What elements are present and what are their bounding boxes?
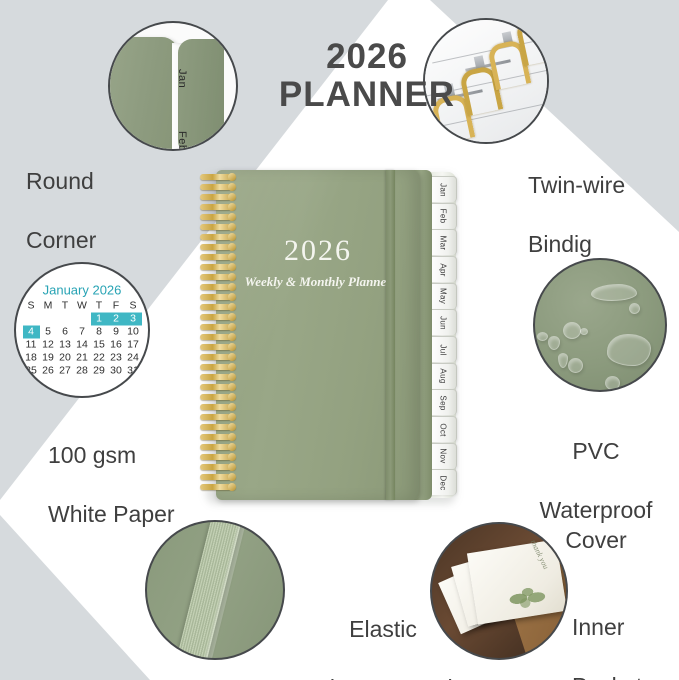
feature-label-pvc-cover-line1: PVC	[510, 437, 679, 466]
calendar-day-cell[interactable]: 17	[125, 339, 142, 352]
spiral-coil	[200, 174, 236, 180]
calendar-day-cell[interactable]: 30	[108, 365, 125, 378]
calendar-day-cell[interactable]: 8	[91, 326, 108, 339]
feature-label-twin-wire: Twin-wire Bindig	[528, 142, 678, 289]
calendar-day-cell[interactable]: 3	[125, 313, 142, 326]
calendar-day-cell[interactable]: 29	[91, 365, 108, 378]
calendar-week-row: 11121314151617	[23, 339, 142, 352]
month-tab-oct[interactable]: Oct	[430, 416, 457, 442]
spiral-coil	[200, 214, 236, 220]
calendar-day-cell[interactable]: 7	[74, 326, 91, 339]
feature-label-inner-pocket: Inner Pocket	[572, 584, 679, 680]
round-corner-cover	[108, 37, 178, 151]
spiral-coil	[200, 384, 236, 390]
calendar-weekday-header: S	[125, 300, 142, 313]
spiral-coil	[200, 294, 236, 300]
feature-label-inner-pocket-line1: Inner	[572, 613, 679, 642]
water-droplet	[563, 322, 581, 339]
calendar-day-cell[interactable]: 19	[40, 352, 57, 365]
calendar-day-cell[interactable]: 27	[57, 365, 74, 378]
month-tab-jan[interactable]: Jan	[430, 176, 457, 202]
spiral-coil	[200, 304, 236, 310]
calendar-weekday-header: T	[91, 300, 108, 313]
feature-label-elastic-band-line1: Elastic	[294, 615, 472, 644]
calendar-empty-cell	[40, 313, 57, 326]
spiral-coil	[200, 274, 236, 280]
month-tab-aug[interactable]: Aug	[430, 363, 457, 389]
month-tab-apr[interactable]: Apr	[430, 256, 457, 282]
calendar-day-cell[interactable]: 15	[91, 339, 108, 352]
calendar-day-cell[interactable]: 13	[57, 339, 74, 352]
feature-label-round-corner-line1: Round	[26, 167, 186, 196]
spiral-coil	[200, 244, 236, 250]
month-tab-label: Jan	[439, 183, 448, 197]
planner-product-image: JanFebMarAprMayJunJulAugSepOctNovDec 202…	[196, 168, 464, 504]
month-tab-label: Jul	[439, 344, 448, 355]
feature-label-white-paper-line1: 100 gsm	[48, 441, 218, 470]
month-tab-label: Mar	[439, 235, 448, 250]
calendar-empty-cell	[74, 313, 91, 326]
spiral-coil	[200, 234, 236, 240]
month-tab-label: Aug	[439, 369, 448, 384]
month-tab-mar[interactable]: Mar	[430, 229, 457, 255]
planner-month-tab-strip: JanFebMarAprMayJunJulAugSepOctNovDec	[430, 176, 458, 496]
month-tab-label: May	[439, 288, 448, 304]
calendar-day-cell[interactable]: 5	[40, 326, 57, 339]
month-tab-nov[interactable]: Nov	[430, 443, 457, 469]
month-tab-jul[interactable]: Jul	[430, 336, 457, 362]
calendar-day-cell[interactable]: 2	[108, 313, 125, 326]
calendar-weekday-header: M	[40, 300, 57, 313]
calendar-weekday-header: S	[23, 300, 40, 313]
spiral-coil	[200, 364, 236, 370]
water-droplet	[605, 376, 620, 390]
calendar-weekday-header: W	[74, 300, 91, 313]
spiral-coil	[200, 254, 236, 260]
calendar-empty-cell	[23, 313, 40, 326]
calendar-day-cell[interactable]: 23	[108, 352, 125, 365]
water-droplet	[558, 353, 568, 368]
calendar-day-cell[interactable]: 1	[91, 313, 108, 326]
month-tab-label: Dec	[439, 475, 448, 490]
calendar-week-row: 123	[23, 313, 142, 326]
calendar-day-cell[interactable]: 26	[40, 365, 57, 378]
calendar-header-row: SMTWTFS	[23, 300, 142, 313]
spiral-coil	[200, 184, 236, 190]
feature-label-twin-wire-line1: Twin-wire	[528, 171, 678, 200]
calendar-week-row: 45678910	[23, 326, 142, 339]
calendar-empty-cell	[57, 313, 74, 326]
calendar-day-cell[interactable]: 12	[40, 339, 57, 352]
spiral-coil	[200, 404, 236, 410]
calendar-table: SMTWTFS 12345678910111213141516171819202…	[23, 300, 142, 378]
calendar-widget: January 2026 SMTWTFS 1234567891011121314…	[19, 283, 145, 378]
spiral-coil	[200, 334, 236, 340]
spiral-coil	[200, 204, 236, 210]
month-tab-may[interactable]: May	[430, 283, 457, 309]
calendar-day-cell[interactable]: 24	[125, 352, 142, 365]
spiral-coil	[200, 324, 236, 330]
month-tab-jun[interactable]: Jun	[430, 309, 457, 335]
calendar-day-cell[interactable]: 20	[57, 352, 74, 365]
water-droplet	[568, 358, 583, 373]
month-tab-label: Sep	[439, 395, 448, 410]
calendar-weekday-header: F	[108, 300, 125, 313]
month-tab-label: Nov	[439, 449, 448, 464]
feature-label-elastic-band-line2: Closure Band	[294, 674, 472, 680]
product-infographic: 2026 PLANNER Jan Feb Round Corner Twin-w…	[0, 0, 679, 680]
month-tab-sep[interactable]: Sep	[430, 389, 457, 415]
spiral-coil	[200, 394, 236, 400]
calendar-day-cell[interactable]: 18	[23, 352, 40, 365]
calendar-day-cell[interactable]: 22	[91, 352, 108, 365]
calendar-day-cell[interactable]: 16	[108, 339, 125, 352]
month-tab-dec[interactable]: Dec	[430, 469, 457, 495]
headline-word: PLANNER	[262, 76, 472, 114]
calendar-week-row: 18192021222324	[23, 352, 142, 365]
calendar-day-cell[interactable]: 28	[74, 365, 91, 378]
calendar-weekday-header: T	[57, 300, 74, 313]
spiral-coil	[200, 344, 236, 350]
spiral-coil	[200, 374, 236, 380]
round-corner-tab-jan: Jan	[176, 69, 188, 88]
feature-label-pvc-cover-line2: Waterproof Cover	[510, 496, 679, 555]
water-droplet	[548, 336, 560, 350]
calendar-day-cell[interactable]: 9	[108, 326, 125, 339]
month-tab-label: Apr	[439, 263, 448, 276]
headline-year: 2026	[262, 38, 472, 76]
month-tab-feb[interactable]: Feb	[430, 203, 457, 229]
spiral-coil	[200, 314, 236, 320]
calendar-day-cell[interactable]: 11	[23, 339, 40, 352]
feature-label-white-paper-line2: White Paper	[48, 500, 218, 529]
calendar-week-row: 25262728293031	[23, 365, 142, 378]
calendar-day-cell[interactable]: 10	[125, 326, 142, 339]
detail-bubble-round-corner: Jan Feb	[108, 21, 238, 151]
feature-label-round-corner-line2: Corner	[26, 226, 186, 255]
calendar-day-cell[interactable]: 6	[57, 326, 74, 339]
calendar-day-cell[interactable]: 14	[74, 339, 91, 352]
spiral-coil	[200, 284, 236, 290]
month-tab-label: Jun	[439, 316, 448, 330]
planner-elastic-closure	[386, 170, 395, 500]
water-droplet	[580, 328, 588, 335]
calendar-day-cell[interactable]: 25	[23, 365, 40, 378]
water-droplet	[629, 303, 640, 314]
water-droplet	[537, 332, 548, 341]
feature-label-pvc-cover: PVC Waterproof Cover	[510, 408, 679, 585]
calendar-day-cell[interactable]: 21	[74, 352, 91, 365]
spiral-coil	[200, 264, 236, 270]
page-title: 2026 PLANNER	[262, 38, 472, 114]
calendar-day-cell[interactable]: 31	[125, 365, 142, 378]
feature-label-twin-wire-line2: Bindig	[528, 230, 678, 259]
feature-label-white-paper: 100 gsm White Paper	[48, 412, 218, 559]
month-tab-label: Oct	[439, 423, 448, 436]
feature-label-inner-pocket-line2: Pocket	[572, 672, 679, 680]
feature-label-elastic-band: Elastic Closure Band	[294, 586, 472, 680]
water-droplet	[607, 334, 651, 366]
spiral-coil	[200, 194, 236, 200]
spiral-coil	[200, 354, 236, 360]
calendar-day-cell[interactable]: 4	[23, 326, 40, 339]
month-tab-label: Feb	[439, 209, 448, 224]
spiral-coil	[200, 224, 236, 230]
feature-label-round-corner: Round Corner	[26, 138, 186, 285]
